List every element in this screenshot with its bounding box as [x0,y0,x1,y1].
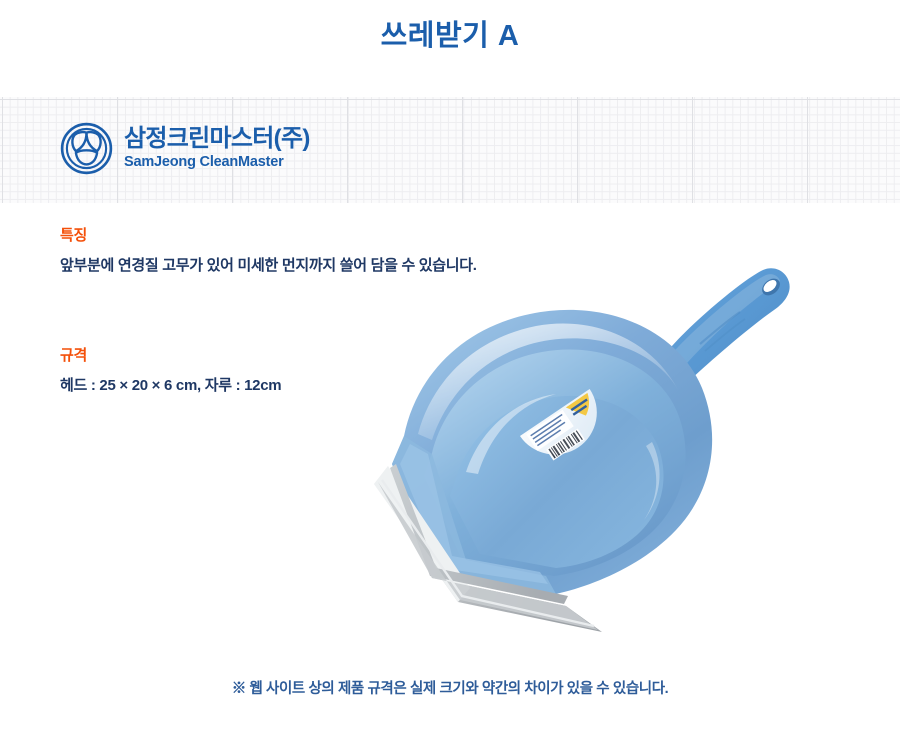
product-image [370,258,830,668]
specifications-description: 헤드 : 25 × 20 × 6 cm, 자루 : 12cm [60,375,281,397]
samjeong-trefoil-emblem-icon [60,122,113,175]
page-title: 쓰레받기 A [0,18,900,56]
specifications-heading: 규격 [60,345,281,366]
specifications-section: 규격 헤드 : 25 × 20 × 6 cm, 자루 : 12cm [60,345,281,397]
features-heading: 특징 [60,225,477,246]
disclaimer-note: ※ 웹 사이트 상의 제품 규격은 실제 크기와 약간의 차이가 있을 수 있습… [0,679,900,699]
brand-name-english: SamJeong CleanMaster [124,154,310,171]
dustpan-photo-icon [370,258,830,668]
brand-logo: 삼정크린마스터(주) SamJeong CleanMaster [60,122,310,175]
product-detail-page: 쓰레받기 A 삼정크린마스터(주) SamJeong CleanMaster 특… [0,0,900,750]
brand-logo-text: 삼정크린마스터(주) SamJeong CleanMaster [124,126,310,171]
brand-name-korean: 삼정크린마스터(주) [124,126,310,153]
